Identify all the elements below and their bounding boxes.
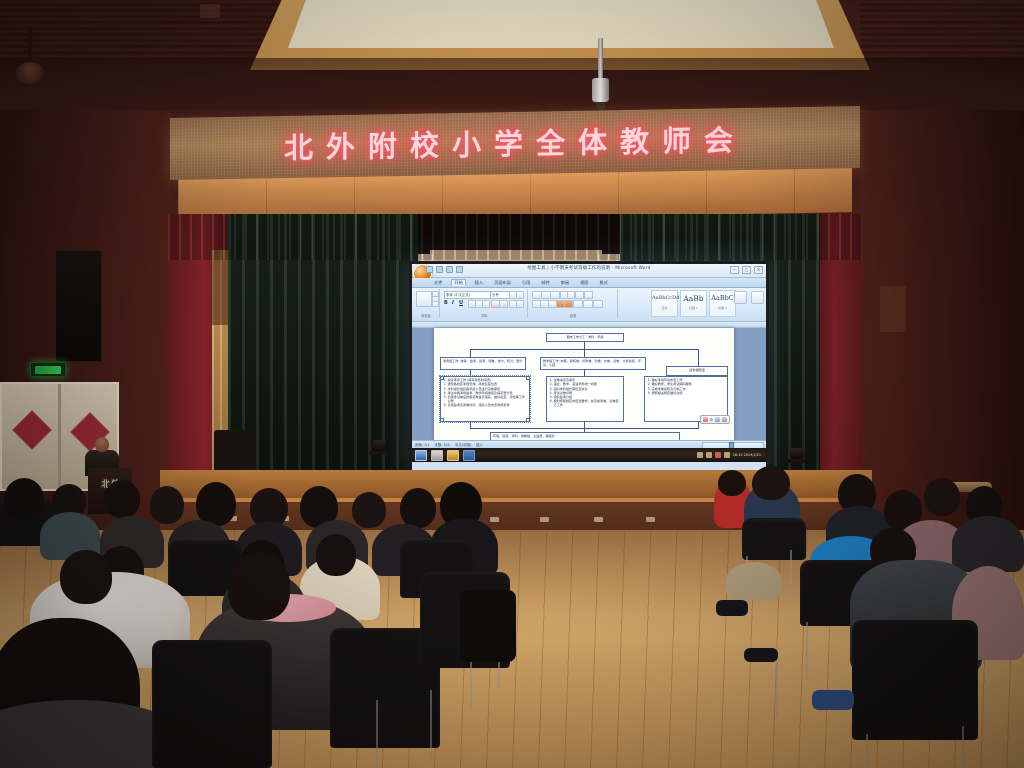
chart-list-item: 按时按照规定的密封要求，并完成考卷、试卷装订工作 [554, 399, 621, 407]
audience-head [316, 534, 356, 576]
presenter-head [95, 437, 109, 452]
start-icon[interactable] [415, 450, 427, 461]
tab-insert[interactable]: 插入 [473, 280, 485, 286]
shading-icon[interactable] [583, 300, 593, 308]
system-tray[interactable]: 16:12 2019/1/21 [697, 452, 763, 458]
audience-head [352, 492, 386, 528]
audience-shoe [744, 648, 778, 662]
distribute-icon[interactable] [564, 300, 573, 308]
redo-icon[interactable] [446, 266, 453, 273]
exit-sign [30, 362, 66, 377]
volume-icon[interactable] [706, 452, 712, 458]
auditorium-photo: 北外附校小学全体教师会 [0, 0, 1024, 768]
tab-format[interactable]: 格式 [598, 280, 610, 286]
increase-indent-icon[interactable] [567, 291, 575, 299]
quick-access-toolbar[interactable] [426, 266, 463, 273]
audience-person [952, 516, 1024, 572]
hanging-lamp-icon [28, 26, 32, 64]
shrink-font-icon[interactable] [516, 291, 524, 299]
status-bar[interactable]: 页面: 1/1 字数: 522 中文(中国) 插入 [412, 440, 766, 448]
door-decoration-diamond [12, 410, 52, 450]
ime-language-bar[interactable]: 中 [700, 415, 730, 424]
chair-leg [806, 622, 808, 680]
chart-list: 拟定考务工作 (填写考务时间表) 通知各校区考场安排、场地及座位表 学科组长组织… [443, 378, 527, 407]
audience-shoe [716, 600, 748, 616]
chair-leg [470, 655, 472, 707]
ribbon[interactable]: 剪贴板 宋体 (中文正文) 五号 B I U [412, 288, 766, 322]
chair [742, 518, 806, 560]
chart-branch-node[interactable]: 后勤保障组 [666, 366, 728, 376]
ribbon-group-label: 字体 [441, 313, 527, 318]
tab-review[interactable]: 审阅 [559, 280, 571, 286]
close-icon[interactable]: ✕ [754, 266, 763, 274]
audience-head [400, 488, 436, 528]
tab-home[interactable]: 开始 [451, 279, 465, 286]
style-heading-2[interactable]: AaBbC 标题 2 [709, 290, 736, 317]
sort-icon[interactable] [575, 291, 584, 299]
borders-icon[interactable] [593, 300, 603, 308]
resize-handle[interactable] [526, 418, 530, 422]
chart-list-item: 负责监考及阅卷时间，组织人员布置考场安排 [448, 403, 527, 407]
chart-list-box[interactable]: 试卷拟定及审定 语文、数学、英语学科统一命题 组织学科组长审核及校对 考试试卷印… [546, 376, 624, 422]
stage-front-vent [490, 517, 499, 522]
chair-leg [776, 660, 778, 716]
chair-leg [790, 550, 792, 598]
coat-on-chair [460, 590, 516, 662]
tab-file[interactable]: 文件 [432, 280, 444, 286]
chair-leg [962, 726, 964, 768]
chart-branch-node[interactable]: 教学组工作: 命题、审核卷、印刷卷、封卷、交卷、试卷、分析总结、评议、小结 [540, 357, 646, 370]
stage-light-head [790, 448, 804, 459]
font-color-icon[interactable] [499, 300, 508, 308]
security-icon[interactable] [724, 452, 730, 458]
audience-head [150, 486, 184, 524]
taskbar-clock[interactable]: 16:12 2019/1/21 [733, 453, 761, 457]
audience-head [924, 478, 960, 516]
ribbon-tabs[interactable]: 文件 开始 插入 页面布局 引用 邮件 审阅 视图 格式 [412, 278, 766, 288]
show-marks-icon[interactable] [584, 291, 593, 299]
resize-handle[interactable] [440, 376, 444, 380]
style-heading-1[interactable]: AaBb 标题 1 [680, 290, 707, 317]
chart-list-item: 负责考试前后的各项准备及落实，做好巡查、评估等工作记录 [448, 395, 527, 403]
change-styles-icon[interactable] [734, 291, 747, 304]
ime-icon[interactable] [703, 417, 708, 422]
tab-references[interactable]: 引用 [520, 280, 532, 286]
windows-taskbar[interactable]: 16:12 2019/1/21 [412, 448, 766, 462]
chart-root-node[interactable]: 期末工作分工 · 学科 · 年级 [546, 333, 624, 342]
document-area[interactable]: 期末工作分工 · 学科 · 年级 考务组工作: 排考、监考、巡考、阅卷、统分、核… [412, 322, 766, 440]
ribbon-group-font[interactable]: 宋体 (中文正文) 五号 B I U 字体 [441, 289, 528, 317]
style-name: 标题 2 [710, 306, 735, 310]
ime-toolbox-icon[interactable] [722, 417, 727, 422]
status-proofing[interactable]: 插入 [476, 442, 483, 447]
status-words: 字数: 522 [434, 442, 449, 447]
stage-front-vent [594, 517, 603, 522]
status-language[interactable]: 中文(中国) [455, 442, 471, 447]
ceiling-vent [200, 4, 220, 18]
explorer-icon[interactable] [431, 450, 443, 461]
resize-handle[interactable] [440, 418, 444, 422]
audience-head [752, 466, 790, 500]
audience-blue-sneaker [812, 690, 854, 710]
chair-leg [430, 690, 432, 762]
audience-head [104, 480, 140, 518]
chart-bottom-names[interactable]: 年级、班级、学科、阅卷组、主监员、副组长 [490, 432, 680, 440]
chart-branch-node[interactable]: 考务组工作: 排考、监考、巡考、阅卷、统分、核分、登分 [440, 357, 526, 370]
chair-leg [866, 734, 868, 768]
door-split [58, 384, 61, 489]
ime-mode[interactable]: 中 [710, 417, 713, 422]
minimize-icon[interactable]: — [730, 266, 739, 274]
folder-icon[interactable] [447, 450, 459, 461]
stage-light-head [372, 440, 386, 451]
document-page[interactable]: 期末工作分工 · 学科 · 年级 考务组工作: 排考、监考、巡考、阅卷、统分、核… [434, 328, 734, 440]
ime-punctuation-icon[interactable] [715, 417, 720, 422]
ribbon-group-clipboard[interactable]: 剪贴板 [413, 289, 440, 317]
font-name-combo[interactable]: 宋体 (中文正文) [444, 291, 491, 299]
projection-screen: 绘图工具 | 小学期末考试等级工作的说明 - Microsoft Word — … [409, 261, 769, 473]
stage-front-vent [646, 517, 655, 522]
italic-icon[interactable]: I [452, 300, 454, 306]
style-sample: AaBbCcDd [652, 291, 677, 306]
style-sample: AaBb [681, 291, 706, 306]
underline-icon[interactable]: U [459, 300, 463, 306]
undo-icon[interactable] [436, 266, 443, 273]
style-normal[interactable]: AaBbCcDd 正文 [651, 290, 678, 317]
ceiling-light-panel [288, 0, 834, 48]
chair-front [152, 640, 272, 768]
style-name: 正文 [652, 306, 677, 310]
bold-icon[interactable]: B [444, 300, 448, 306]
style-sample: AaBbC [710, 291, 735, 306]
stage-front-vent [540, 517, 549, 522]
connector [584, 349, 585, 357]
audience-head [60, 550, 112, 604]
ribbon-group-label: 剪贴板 [413, 313, 439, 318]
flow-chart[interactable]: 期末工作分工 · 学科 · 年级 考务组工作: 排考、监考、巡考、阅卷、统分、核… [434, 328, 734, 440]
ribbon-right-buttons[interactable] [734, 291, 764, 304]
ribbon-group-label: 段落 [529, 313, 617, 318]
status-page: 页面: 1/1 [415, 442, 429, 447]
word-window[interactable]: 绘图工具 | 小学期末考试等级工作的说明 - Microsoft Word — … [412, 264, 766, 470]
stage-light-base [787, 459, 807, 463]
chart-list: 做好考场环境布置工作 做好教师、学生考试期间服务 完成考卷复核及归档工作 按照相… [647, 378, 725, 394]
wall-panel-right [880, 286, 906, 332]
styles-gallery[interactable]: AaBbCcDd 正文 AaBb 标题 1 AaBbC 标题 2 [651, 290, 736, 317]
save-icon[interactable] [426, 266, 433, 273]
font-size-combo[interactable]: 五号 [490, 291, 510, 299]
phonetic-guide-icon[interactable] [516, 300, 524, 308]
exit-sign-icon [35, 366, 61, 374]
led-banner: 北外附校小学全体教师会 [170, 106, 860, 180]
word-icon[interactable] [463, 450, 475, 461]
paste-icon[interactable] [416, 291, 432, 307]
chart-list-item: 按照相关规定做好交接 [652, 391, 725, 395]
superscript-icon[interactable] [482, 300, 490, 308]
chair-leg [376, 700, 378, 768]
connector [470, 349, 471, 357]
audience-khaki-trousers [726, 562, 782, 600]
ceiling-projector-icon [598, 38, 603, 80]
word-title-bar: 绘图工具 | 小学期末考试等级工作的说明 - Microsoft Word — … [412, 264, 766, 278]
audience-head [4, 478, 44, 520]
line-spacing-icon[interactable] [573, 300, 583, 308]
ceiling-slats-right [860, 0, 1024, 60]
tab-page-layout[interactable]: 页面布局 [492, 280, 513, 286]
resize-handle[interactable] [526, 376, 530, 380]
chair-front [852, 620, 978, 740]
find-icon[interactable] [751, 291, 764, 304]
audience-head [718, 470, 746, 496]
chart-list: 试卷拟定及审定 语文、数学、英语学科统一命题 组织学科组长审核及校对 考试试卷印… [549, 378, 621, 407]
stage-light-base [369, 451, 389, 455]
tab-mailings[interactable]: 邮件 [539, 280, 551, 286]
network-icon[interactable] [697, 452, 703, 458]
ceiling [0, 0, 1024, 120]
window-title: 绘图工具 | 小学期末考试等级工作的说明 - Microsoft Word [527, 265, 650, 271]
customize-icon[interactable] [456, 266, 463, 273]
tab-view[interactable]: 视图 [578, 280, 590, 286]
stage-valance [168, 214, 862, 260]
ime-icon[interactable] [715, 452, 721, 458]
audience-head [228, 552, 290, 620]
connector [584, 342, 585, 349]
maximize-icon[interactable]: ▢ [742, 266, 751, 274]
connector [698, 349, 699, 367]
multilevel-list-icon[interactable] [550, 291, 560, 299]
style-name: 标题 1 [681, 306, 706, 310]
window-buttons[interactable]: — ▢ ✕ [730, 266, 763, 274]
chart-list-box[interactable]: 拟定考务工作 (填写考务时间表) 通知各校区考场安排、场地及座位表 学科组长组织… [440, 376, 530, 422]
ribbon-group-paragraph[interactable]: 段落 [529, 289, 618, 317]
wall-speaker-left [55, 250, 102, 362]
format-painter-icon[interactable] [432, 301, 439, 307]
